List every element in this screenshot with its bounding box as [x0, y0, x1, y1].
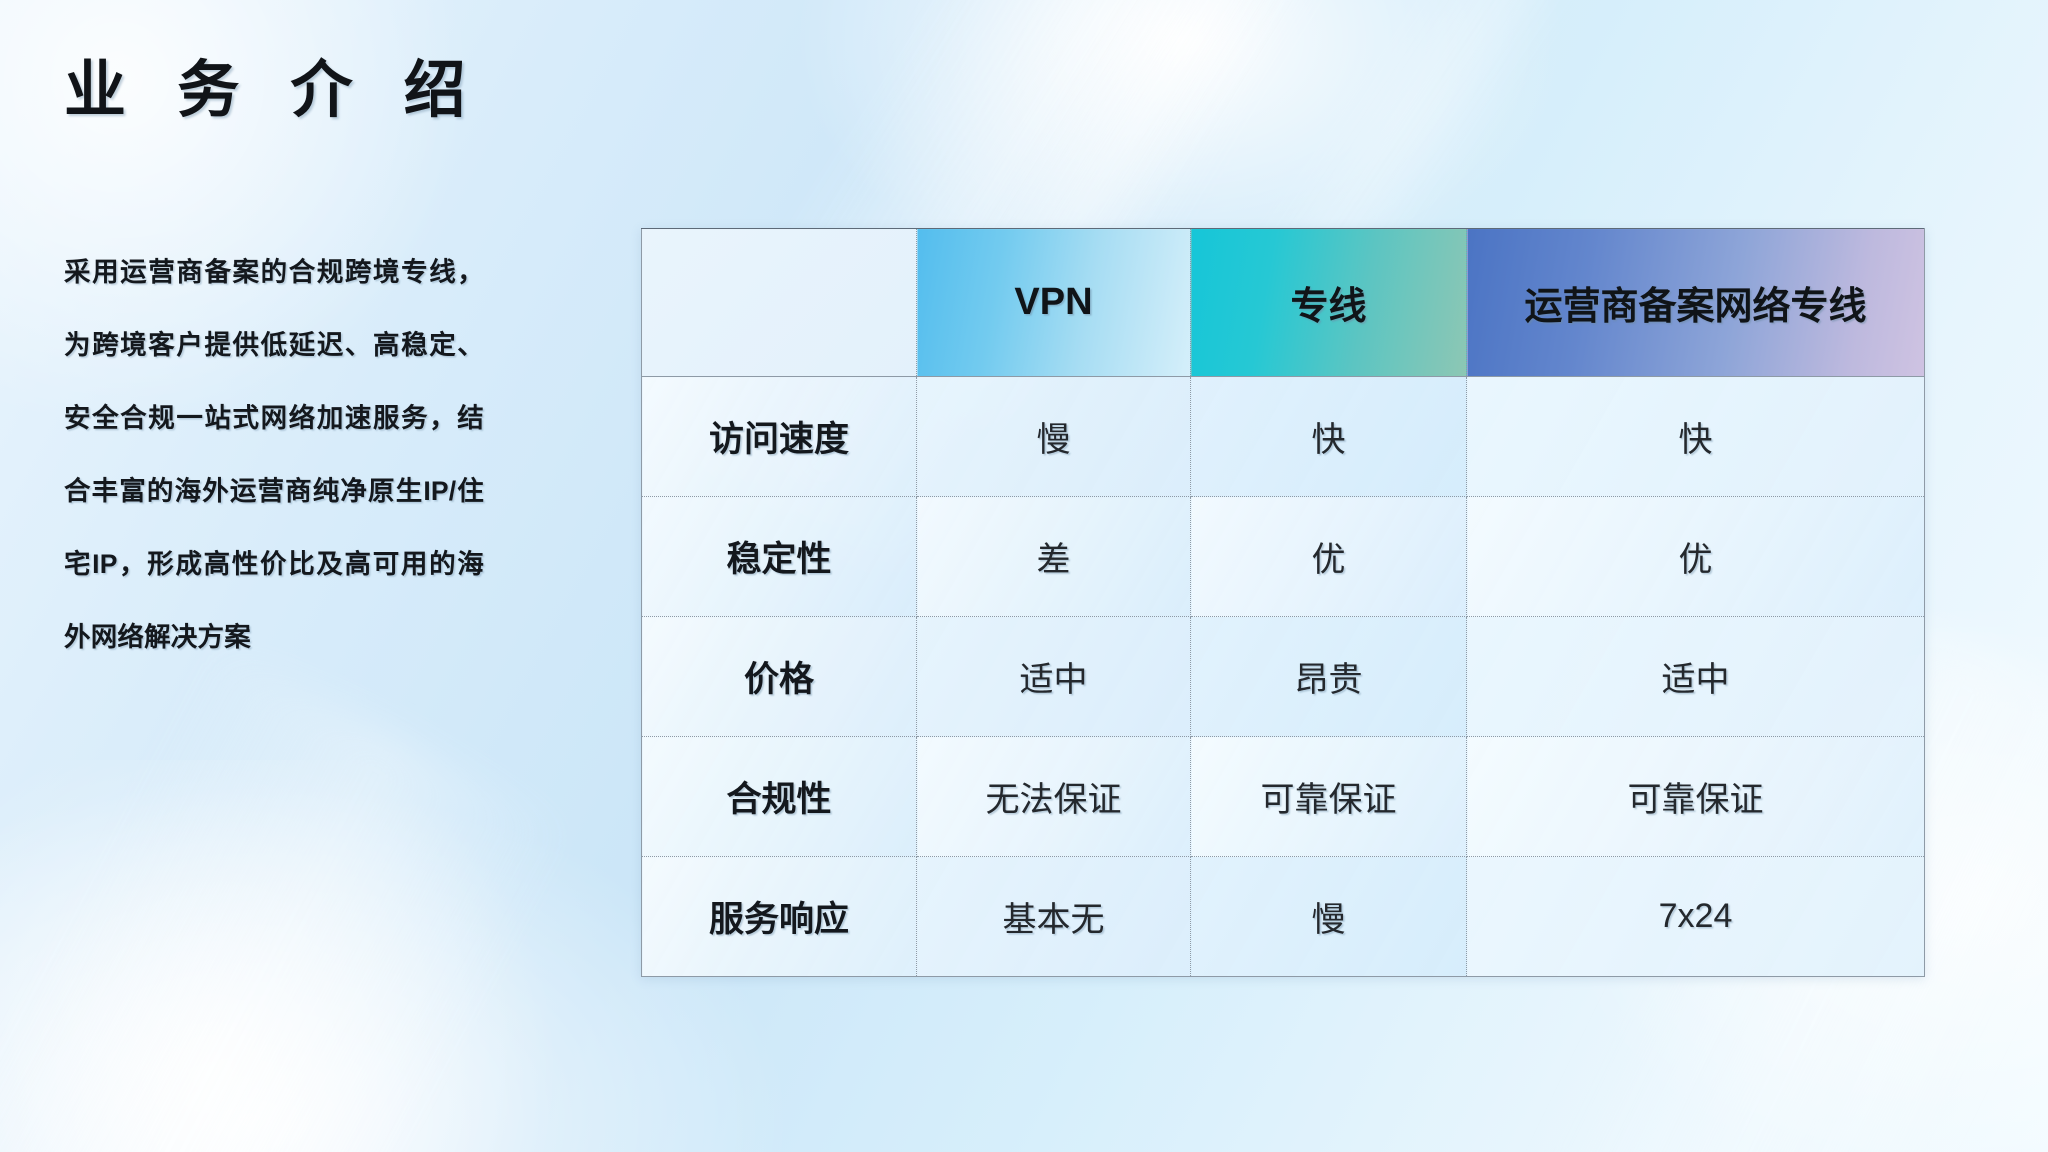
table-row: 价格 适中 昂贵 适中: [642, 617, 1925, 737]
row-label: 服务响应: [642, 857, 917, 977]
cell-vpn: 基本无: [917, 857, 1191, 977]
table-header-row: VPN 专线 运营商备案网络专线: [642, 229, 1925, 377]
table-body: 访问速度 慢 快 快 稳定性 差 优 优 价格 适中 昂贵 适中 合规性 无法保…: [642, 377, 1925, 977]
light-streak: [0, 638, 581, 1152]
cell-line: 优: [1191, 497, 1467, 617]
bottom-left-glow: [0, 760, 620, 1152]
cell-vpn: 慢: [917, 377, 1191, 497]
table-header-line: 专线: [1191, 229, 1467, 377]
table-row: 合规性 无法保证 可靠保证 可靠保证: [642, 737, 1925, 857]
row-label: 合规性: [642, 737, 917, 857]
table-row: 访问速度 慢 快 快: [642, 377, 1925, 497]
cell-line: 慢: [1191, 857, 1467, 977]
comparison-table: VPN 专线 运营商备案网络专线 访问速度 慢 快 快 稳定性 差 优 优 价格…: [641, 228, 1925, 977]
cell-line: 昂贵: [1191, 617, 1467, 737]
cell-vpn: 差: [917, 497, 1191, 617]
intro-paragraph: 采用运营商备案的合规跨境专线，为跨境客户提供低延迟、高稳定、安全合规一站式网络加…: [64, 236, 484, 674]
slide-canvas: 业 务 介 绍 采用运营商备案的合规跨境专线，为跨境客户提供低延迟、高稳定、安全…: [0, 0, 2048, 1152]
cell-line: 可靠保证: [1191, 737, 1467, 857]
table-header-carrier: 运营商备案网络专线: [1467, 229, 1925, 377]
table-header-vpn: VPN: [917, 229, 1191, 377]
page-title: 业 务 介 绍: [64, 57, 483, 125]
table-header-blank: [642, 229, 917, 377]
cell-carrier: 快: [1467, 377, 1925, 497]
row-label: 稳定性: [642, 497, 917, 617]
table-header: VPN 专线 运营商备案网络专线: [642, 229, 1925, 377]
cell-carrier: 7x24: [1467, 857, 1925, 977]
cell-vpn: 无法保证: [917, 737, 1191, 857]
cell-carrier: 适中: [1467, 617, 1925, 737]
row-label: 价格: [642, 617, 917, 737]
cell-carrier: 可靠保证: [1467, 737, 1925, 857]
table-row: 服务响应 基本无 慢 7x24: [642, 857, 1925, 977]
table-row: 稳定性 差 优 优: [642, 497, 1925, 617]
cell-line: 快: [1191, 377, 1467, 497]
row-label: 访问速度: [642, 377, 917, 497]
cell-carrier: 优: [1467, 497, 1925, 617]
cell-vpn: 适中: [917, 617, 1191, 737]
